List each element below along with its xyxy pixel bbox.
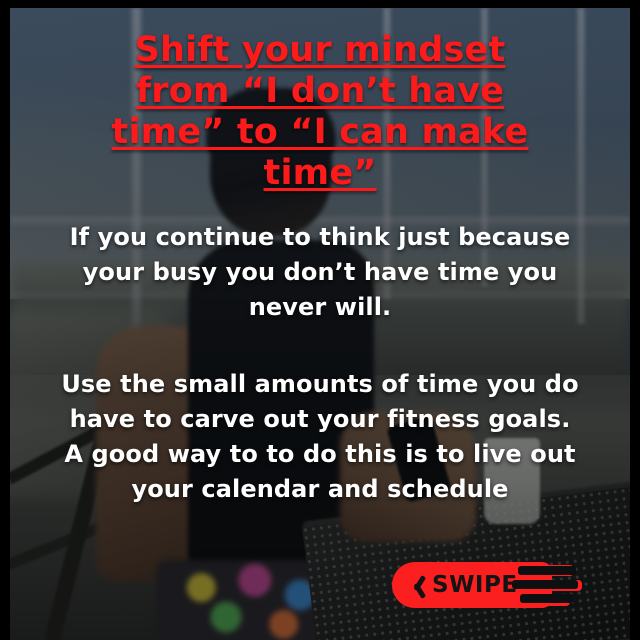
chevron-left-icon — [406, 573, 423, 597]
body-paragraph-2: Use the small amounts of time you do hav… — [50, 367, 590, 437]
body-paragraph-1: If you continue to think just because yo… — [50, 220, 590, 325]
text-overlay: Shift your mindset from “I don’t have ti… — [0, 0, 640, 640]
speed-line-icon — [518, 566, 576, 575]
speed-line-icon — [520, 594, 574, 603]
social-post-canvas: Shift your mindset from “I don’t have ti… — [0, 0, 640, 640]
swipe-label: SWIPE — [432, 572, 518, 598]
swipe-badge[interactable]: SWIPE — [392, 562, 577, 608]
speed-line-icon — [512, 580, 578, 589]
headline-text: Shift your mindset from “I don’t have ti… — [95, 30, 545, 194]
body-paragraph-3: A good way to to do this is to live out … — [50, 437, 590, 507]
